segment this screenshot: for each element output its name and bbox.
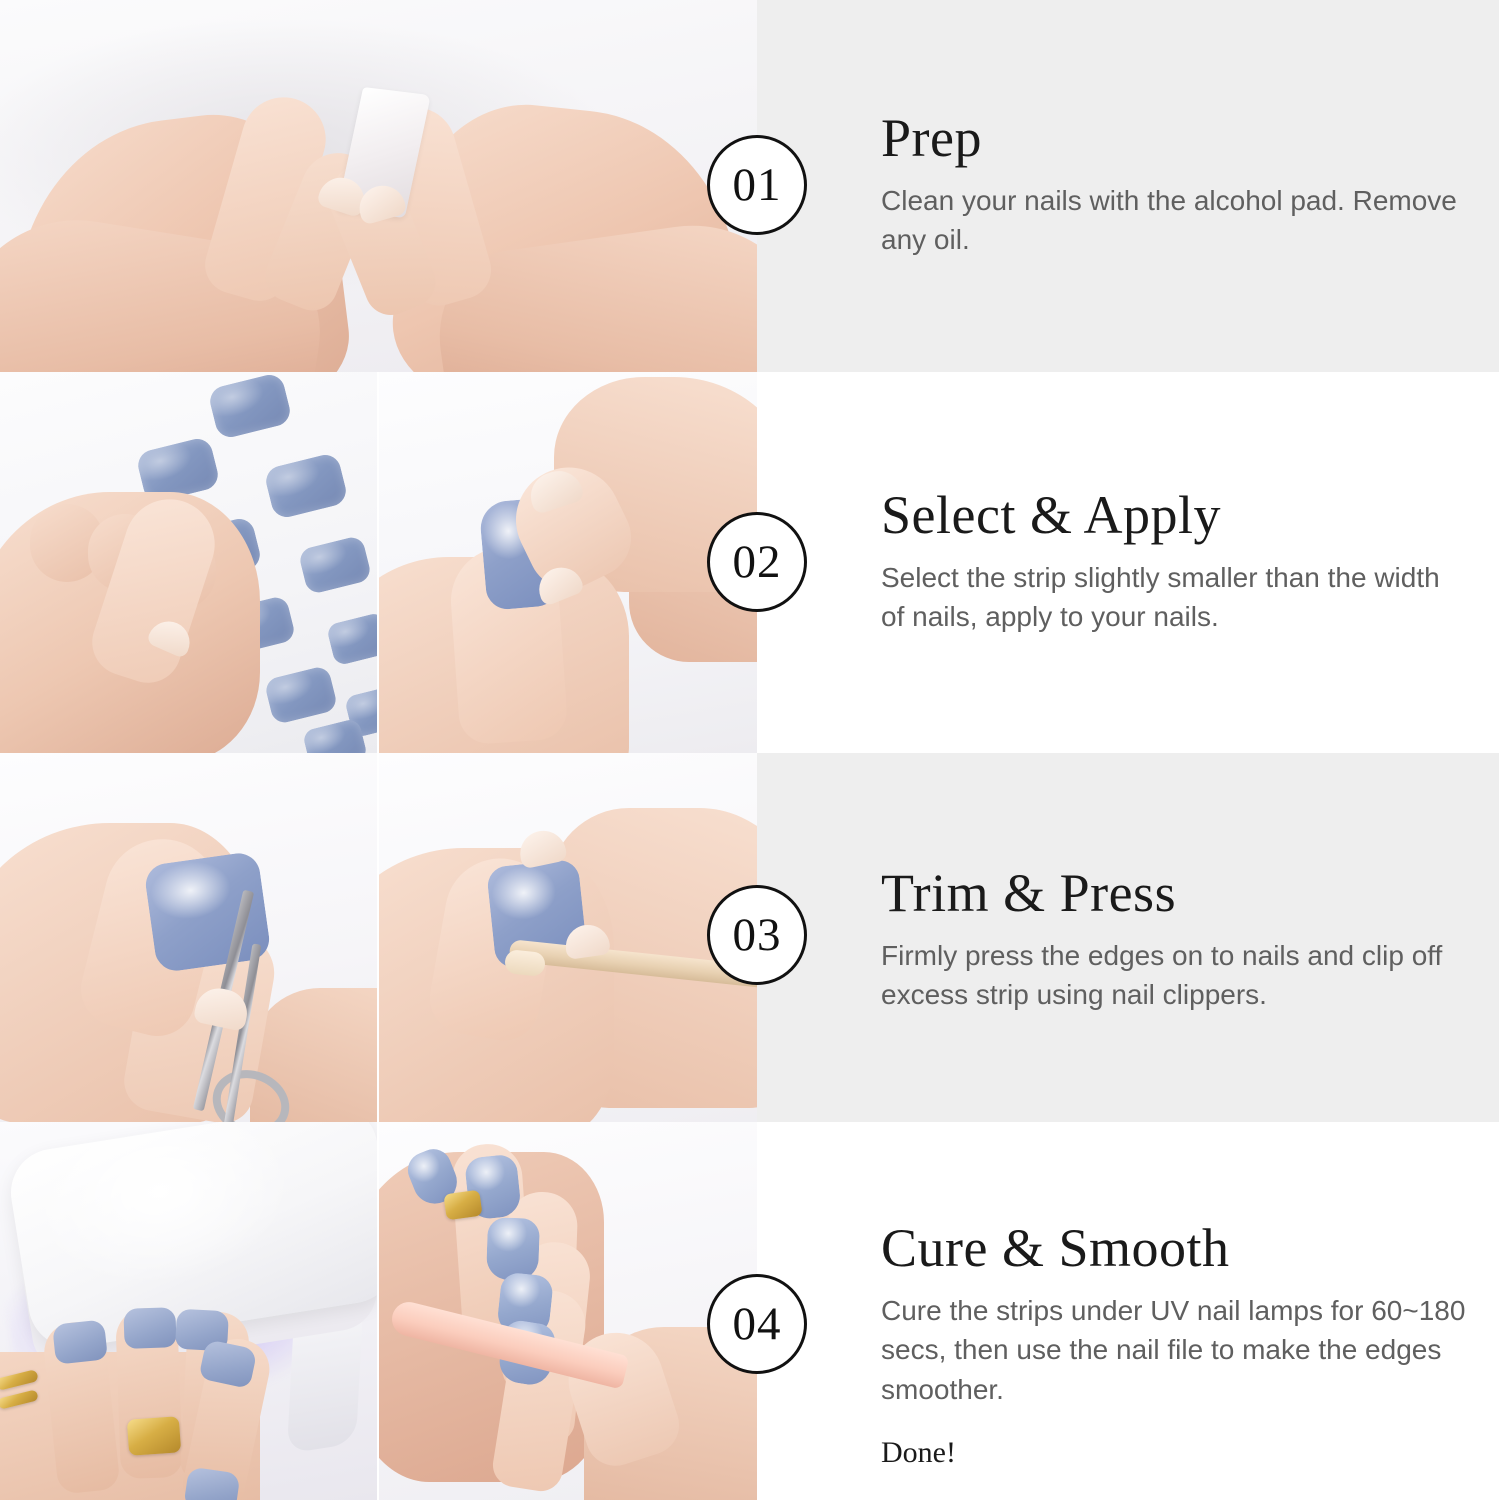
step-badge-03: 03 (707, 885, 807, 985)
step-description: Clean your nails with the alcohol pad. R… (881, 181, 1469, 261)
photo-trim-excess (0, 753, 379, 1122)
gold-ring (127, 1416, 181, 1456)
step-badge-04: 04 (707, 1274, 807, 1374)
step-row-03: Trim & Press Firmly press the edges on t… (0, 753, 1499, 1122)
step-description: Firmly press the edges on to nails and c… (881, 936, 1469, 1016)
step-04-text-column: Cure & Smooth Cure the strips under UV n… (757, 1122, 1499, 1500)
photo-strip-sheet (0, 372, 379, 753)
photo-press-edges (379, 753, 757, 1122)
step-description: Select the strip slightly smaller than t… (881, 558, 1469, 638)
step-done-label: Done! (881, 1436, 1469, 1470)
step-description: Cure the strips under UV nail lamps for … (881, 1291, 1469, 1410)
step-row-04: Cure & Smooth Cure the strips under UV n… (0, 1122, 1499, 1500)
step-03-text-column: Trim & Press Firmly press the edges on t… (757, 753, 1499, 1122)
step-number: 02 (733, 539, 782, 586)
step-01-photo-column (0, 0, 757, 372)
step-badge-02: 02 (707, 512, 807, 612)
photo-nail-file-smooth (379, 1122, 757, 1500)
step-title: Cure & Smooth (881, 1220, 1469, 1277)
step-03-photo-column (0, 753, 757, 1122)
photo-prep-alcohol-pad (0, 0, 757, 372)
step-number: 04 (733, 1301, 782, 1348)
step-02-photo-column (0, 372, 757, 753)
step-02-text-column: Select & Apply Select the strip slightly… (757, 372, 1499, 753)
photo-uv-lamp-cure (0, 1122, 379, 1500)
step-01-text-column: Prep Clean your nails with the alcohol p… (757, 0, 1499, 372)
manicured-nail (486, 1217, 540, 1281)
step-number: 03 (733, 912, 782, 959)
gold-ring (443, 1190, 482, 1221)
photo-apply-strip (379, 372, 757, 753)
instructions-infographic: Prep Clean your nails with the alcohol p… (0, 0, 1499, 1500)
step-title: Trim & Press (881, 865, 1469, 922)
step-row-01: Prep Clean your nails with the alcohol p… (0, 0, 1499, 372)
step-row-02: Select & Apply Select the strip slightly… (0, 372, 1499, 753)
step-number: 01 (733, 162, 782, 209)
step-04-photo-column (0, 1122, 757, 1500)
step-title: Prep (881, 110, 1469, 167)
step-title: Select & Apply (881, 487, 1469, 544)
step-badge-01: 01 (707, 135, 807, 235)
